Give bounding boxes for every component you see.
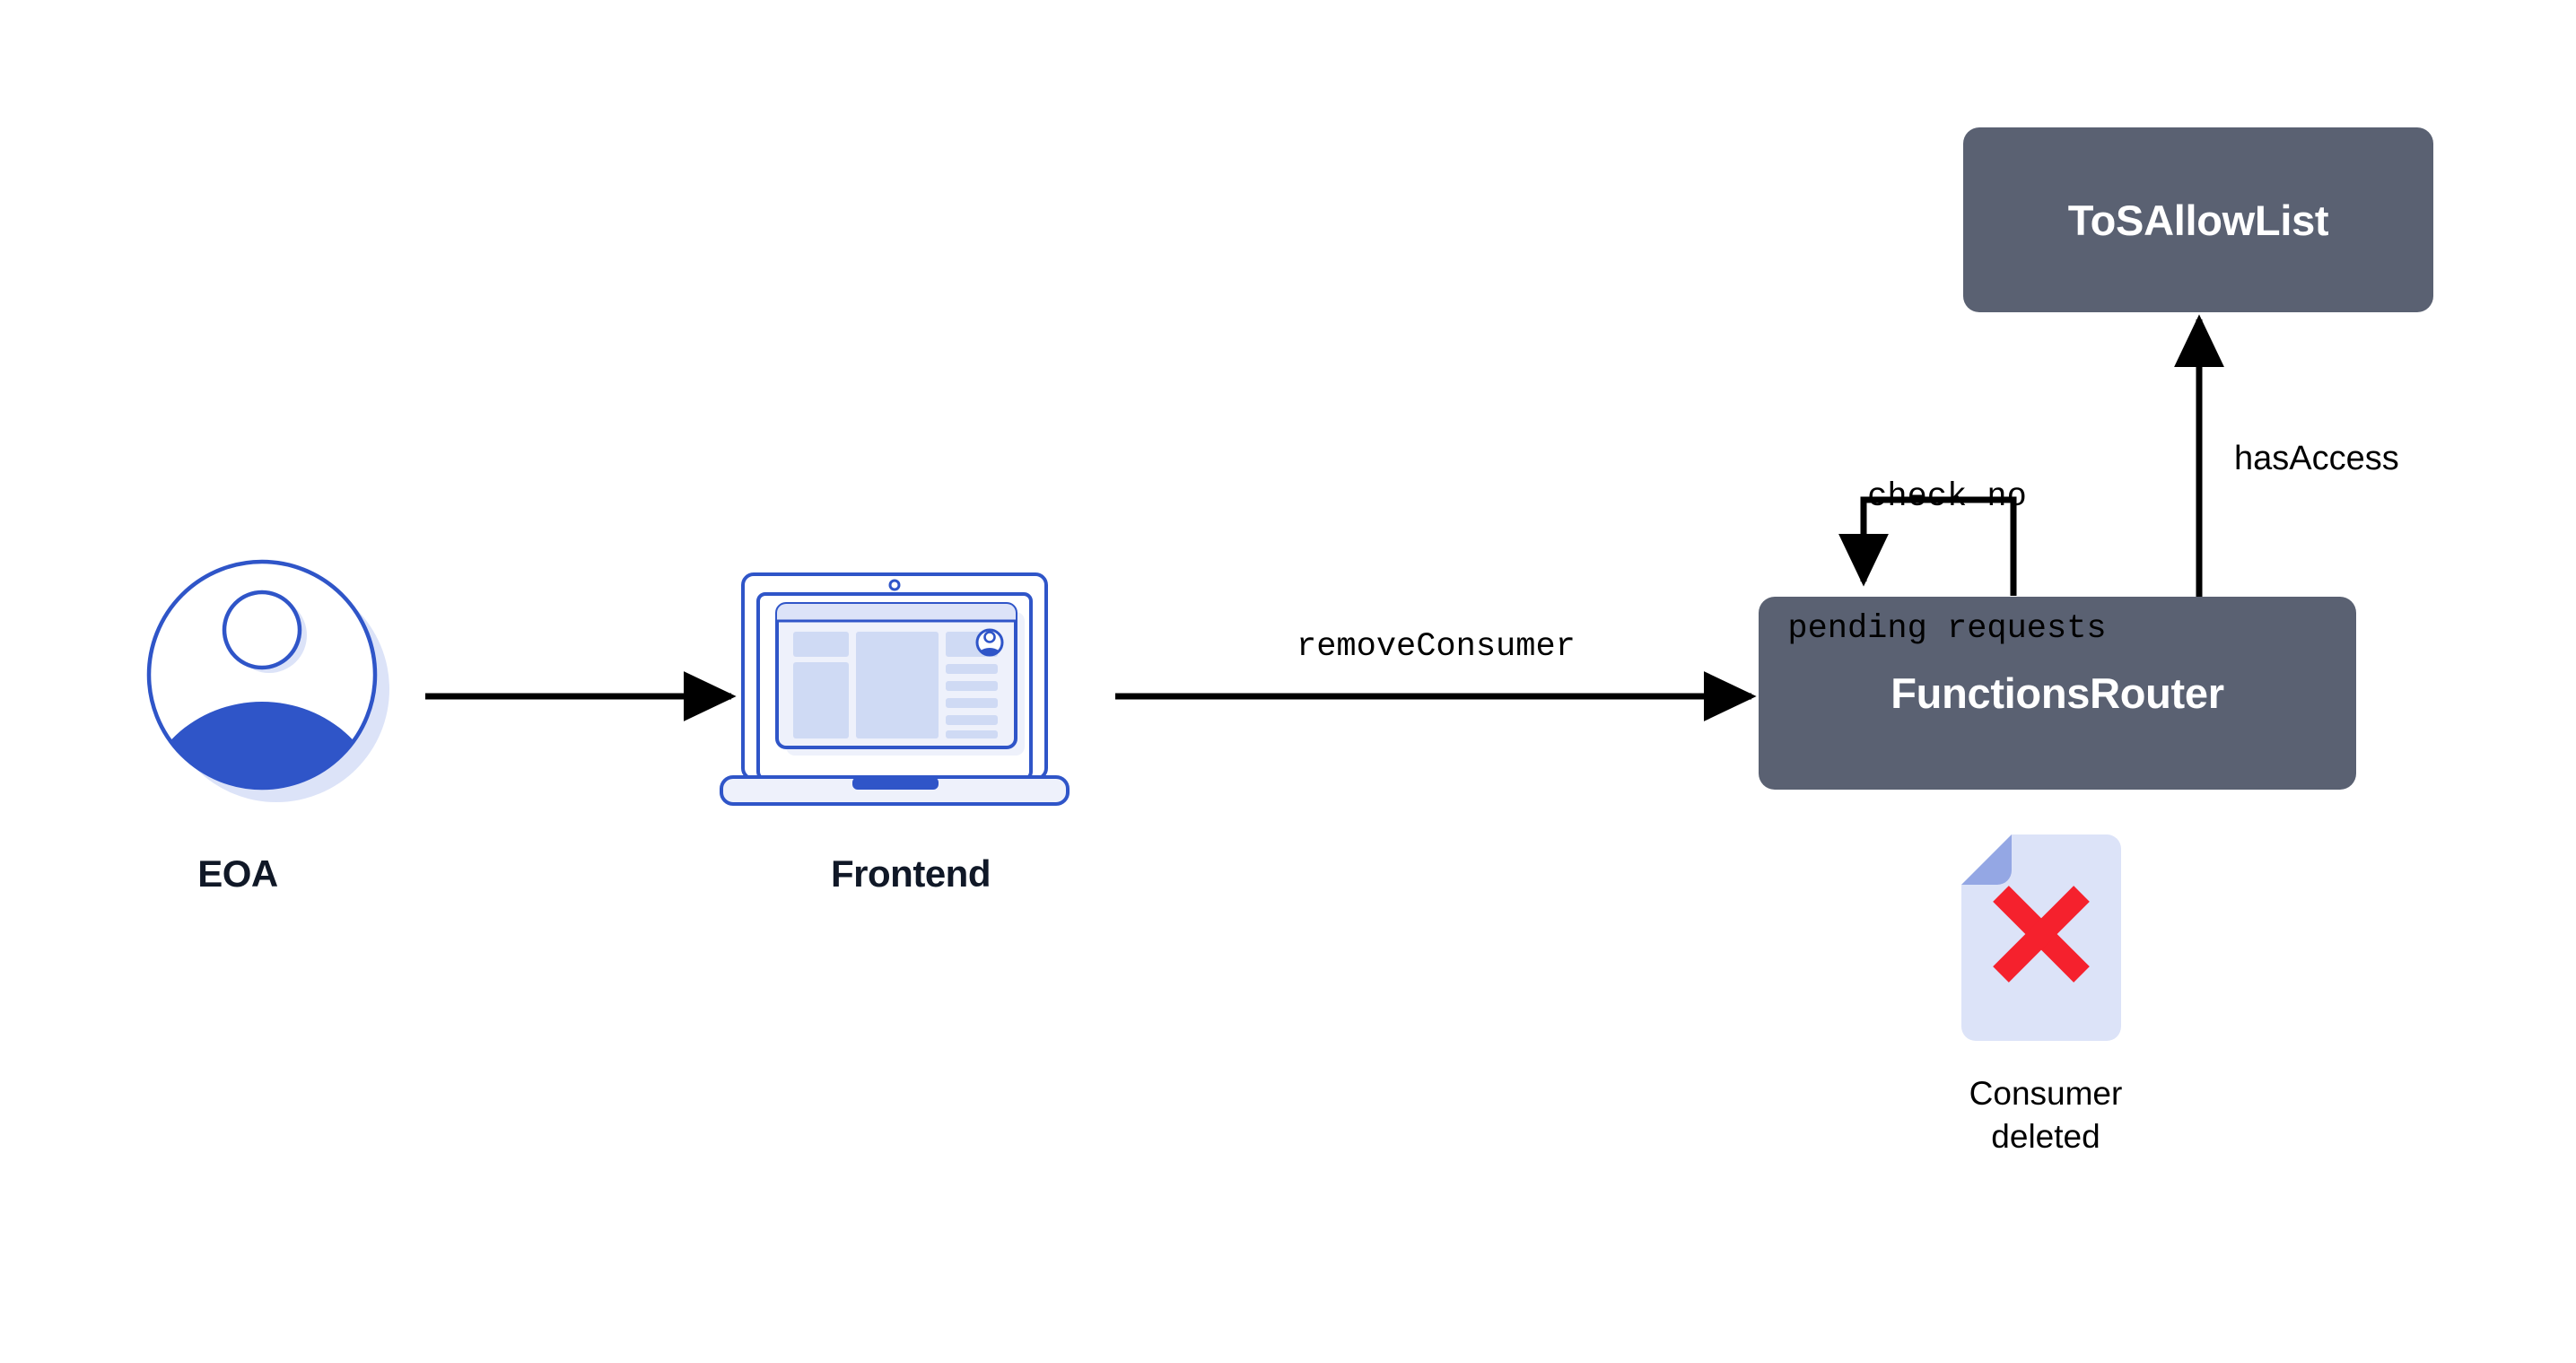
laptop-icon <box>718 565 1104 826</box>
node-tos-allowlist[interactable]: ToSAllowList <box>1963 127 2433 312</box>
user-avatar-icon <box>144 556 395 808</box>
edge-label-remove-consumer: removeConsumer <box>1297 628 1576 666</box>
node-tos-allowlist-label: ToSAllowList <box>2068 196 2329 245</box>
file-deleted-icon <box>1956 833 2126 1044</box>
consumer-deleted-label: Consumer deleted <box>1880 1072 2212 1158</box>
edge-label-check-no-pending-requests-line2: pending requests <box>1777 607 2118 651</box>
edge-label-has-access: hasAccess <box>2234 440 2399 478</box>
eoa-label: EOA <box>117 852 359 896</box>
consumer-deleted-label-line1: Consumer <box>1880 1072 2212 1115</box>
edge-label-check-no-pending-requests-line1: check no <box>1777 476 2118 520</box>
edge-label-check-no-pending-requests: check no pending requests <box>1777 388 2118 739</box>
consumer-deleted-label-line2: deleted <box>1880 1115 2212 1158</box>
frontend-label: Frontend <box>709 852 1113 896</box>
diagram-canvas: ToSAllowList FunctionsRouter <box>0 0 2576 1363</box>
